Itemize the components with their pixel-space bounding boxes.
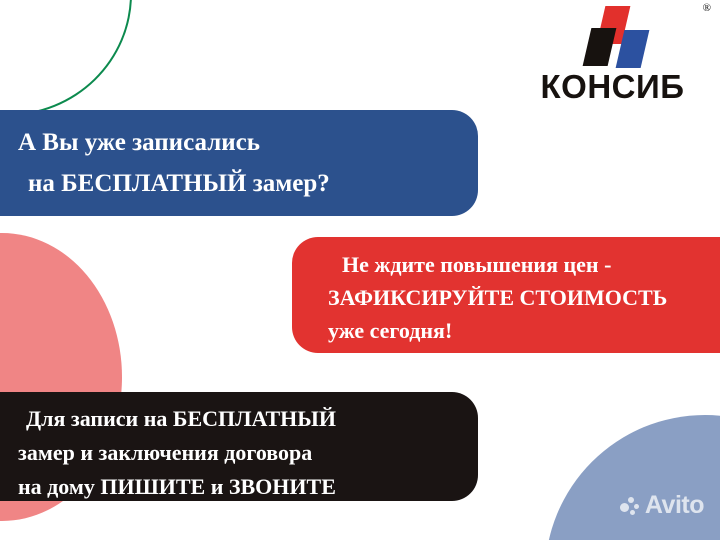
banner-red-line-1: Не ждите повышения цен -	[328, 248, 720, 281]
headline-banner-black: Для записи на БЕСПЛАТНЫЙ замер и заключе…	[0, 392, 478, 501]
logo-wordmark: КОНСИБ	[541, 70, 685, 103]
logo-mark-icon	[574, 6, 652, 68]
registered-trademark-symbol: ®	[703, 2, 711, 14]
banner-blue-line-1: А Вы уже записались	[18, 122, 458, 163]
banner-black-line-2: замер и заключения договора	[18, 436, 464, 470]
headline-banner-red: Не ждите повышения цен - ЗАФИКСИРУЙТЕ СТ…	[292, 237, 720, 353]
banner-red-line-3: уже сегодня!	[328, 314, 720, 347]
avito-watermark-label: Avito	[645, 493, 704, 518]
blue-gray-circle-decoration	[545, 415, 720, 540]
logo-parallelogram-black-icon	[582, 28, 616, 66]
headline-banner-blue: А Вы уже записались на БЕСПЛАТНЫЙ замер?	[0, 110, 478, 216]
avito-watermark: Avito	[620, 493, 704, 518]
green-circle-outline-decoration	[0, 0, 132, 116]
company-logo: КОНСИБ®	[525, 6, 700, 103]
banner-black-line-1: Для записи на БЕСПЛАТНЫЙ	[18, 402, 464, 436]
banner-black-line-3: на дому ПИШИТЕ и ЗВОНИТЕ	[18, 470, 464, 504]
promo-poster: КОНСИБ® А Вы уже записались на БЕСПЛАТНЫ…	[0, 0, 720, 540]
avito-dots-icon	[620, 496, 640, 516]
banner-blue-line-2: на БЕСПЛАТНЫЙ замер?	[18, 163, 458, 204]
banner-red-line-2: ЗАФИКСИРУЙТЕ СТОИМОСТЬ	[328, 281, 720, 314]
